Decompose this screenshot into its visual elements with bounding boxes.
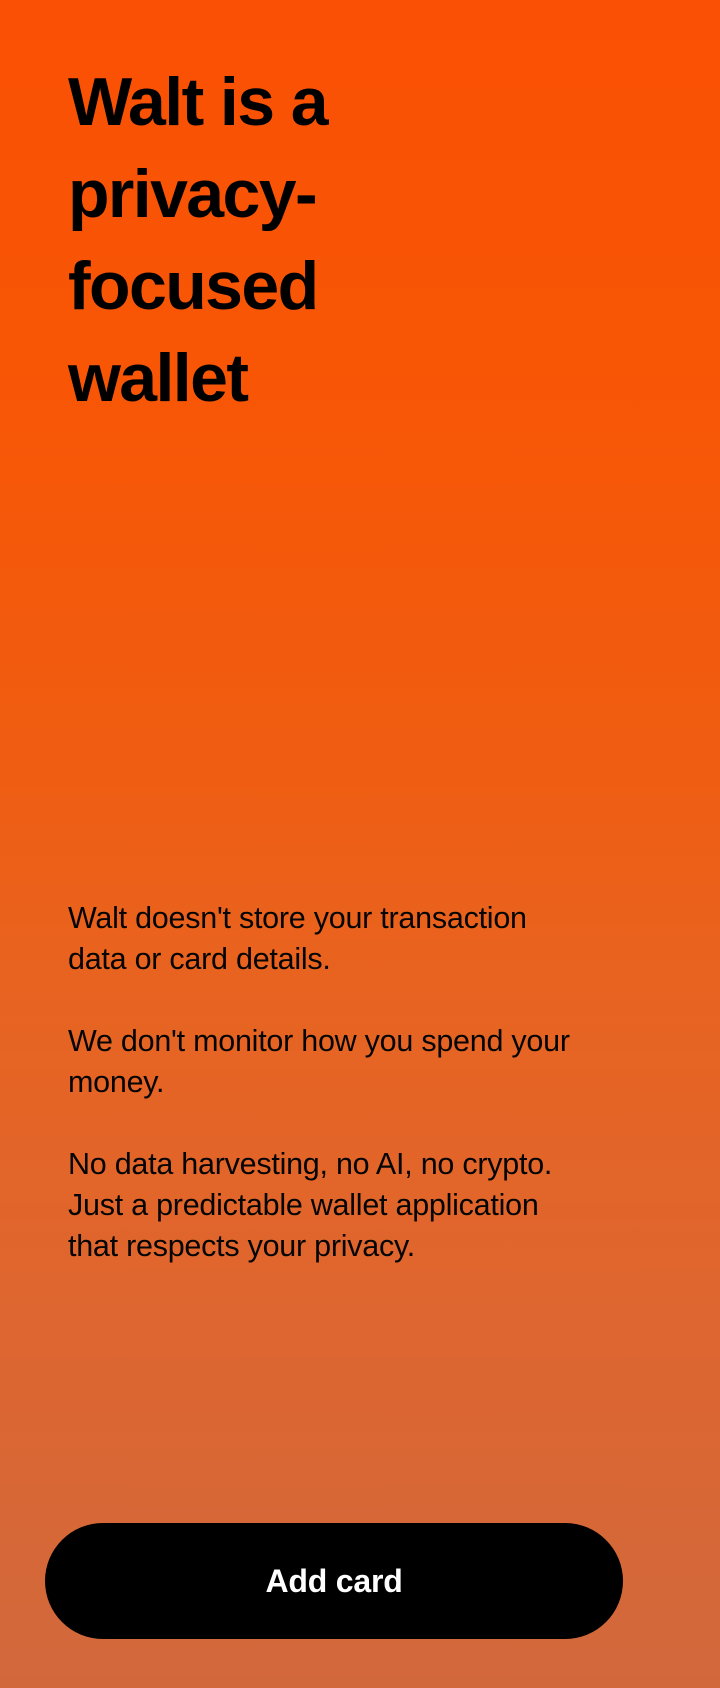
onboarding-screen: Walt is a privacy-focused wallet Walt do… <box>0 0 720 1688</box>
body-paragraph: We don't monitor how you spend your mone… <box>68 1021 588 1103</box>
body-paragraph: Walt doesn't store your transaction data… <box>68 898 588 980</box>
body-paragraph: No data harvesting, no AI, no crypto. Ju… <box>68 1144 588 1267</box>
body-copy: Walt doesn't store your transaction data… <box>68 898 588 1267</box>
add-card-button[interactable]: Add card <box>45 1523 623 1639</box>
page-title: Walt is a privacy-focused wallet <box>68 56 468 424</box>
